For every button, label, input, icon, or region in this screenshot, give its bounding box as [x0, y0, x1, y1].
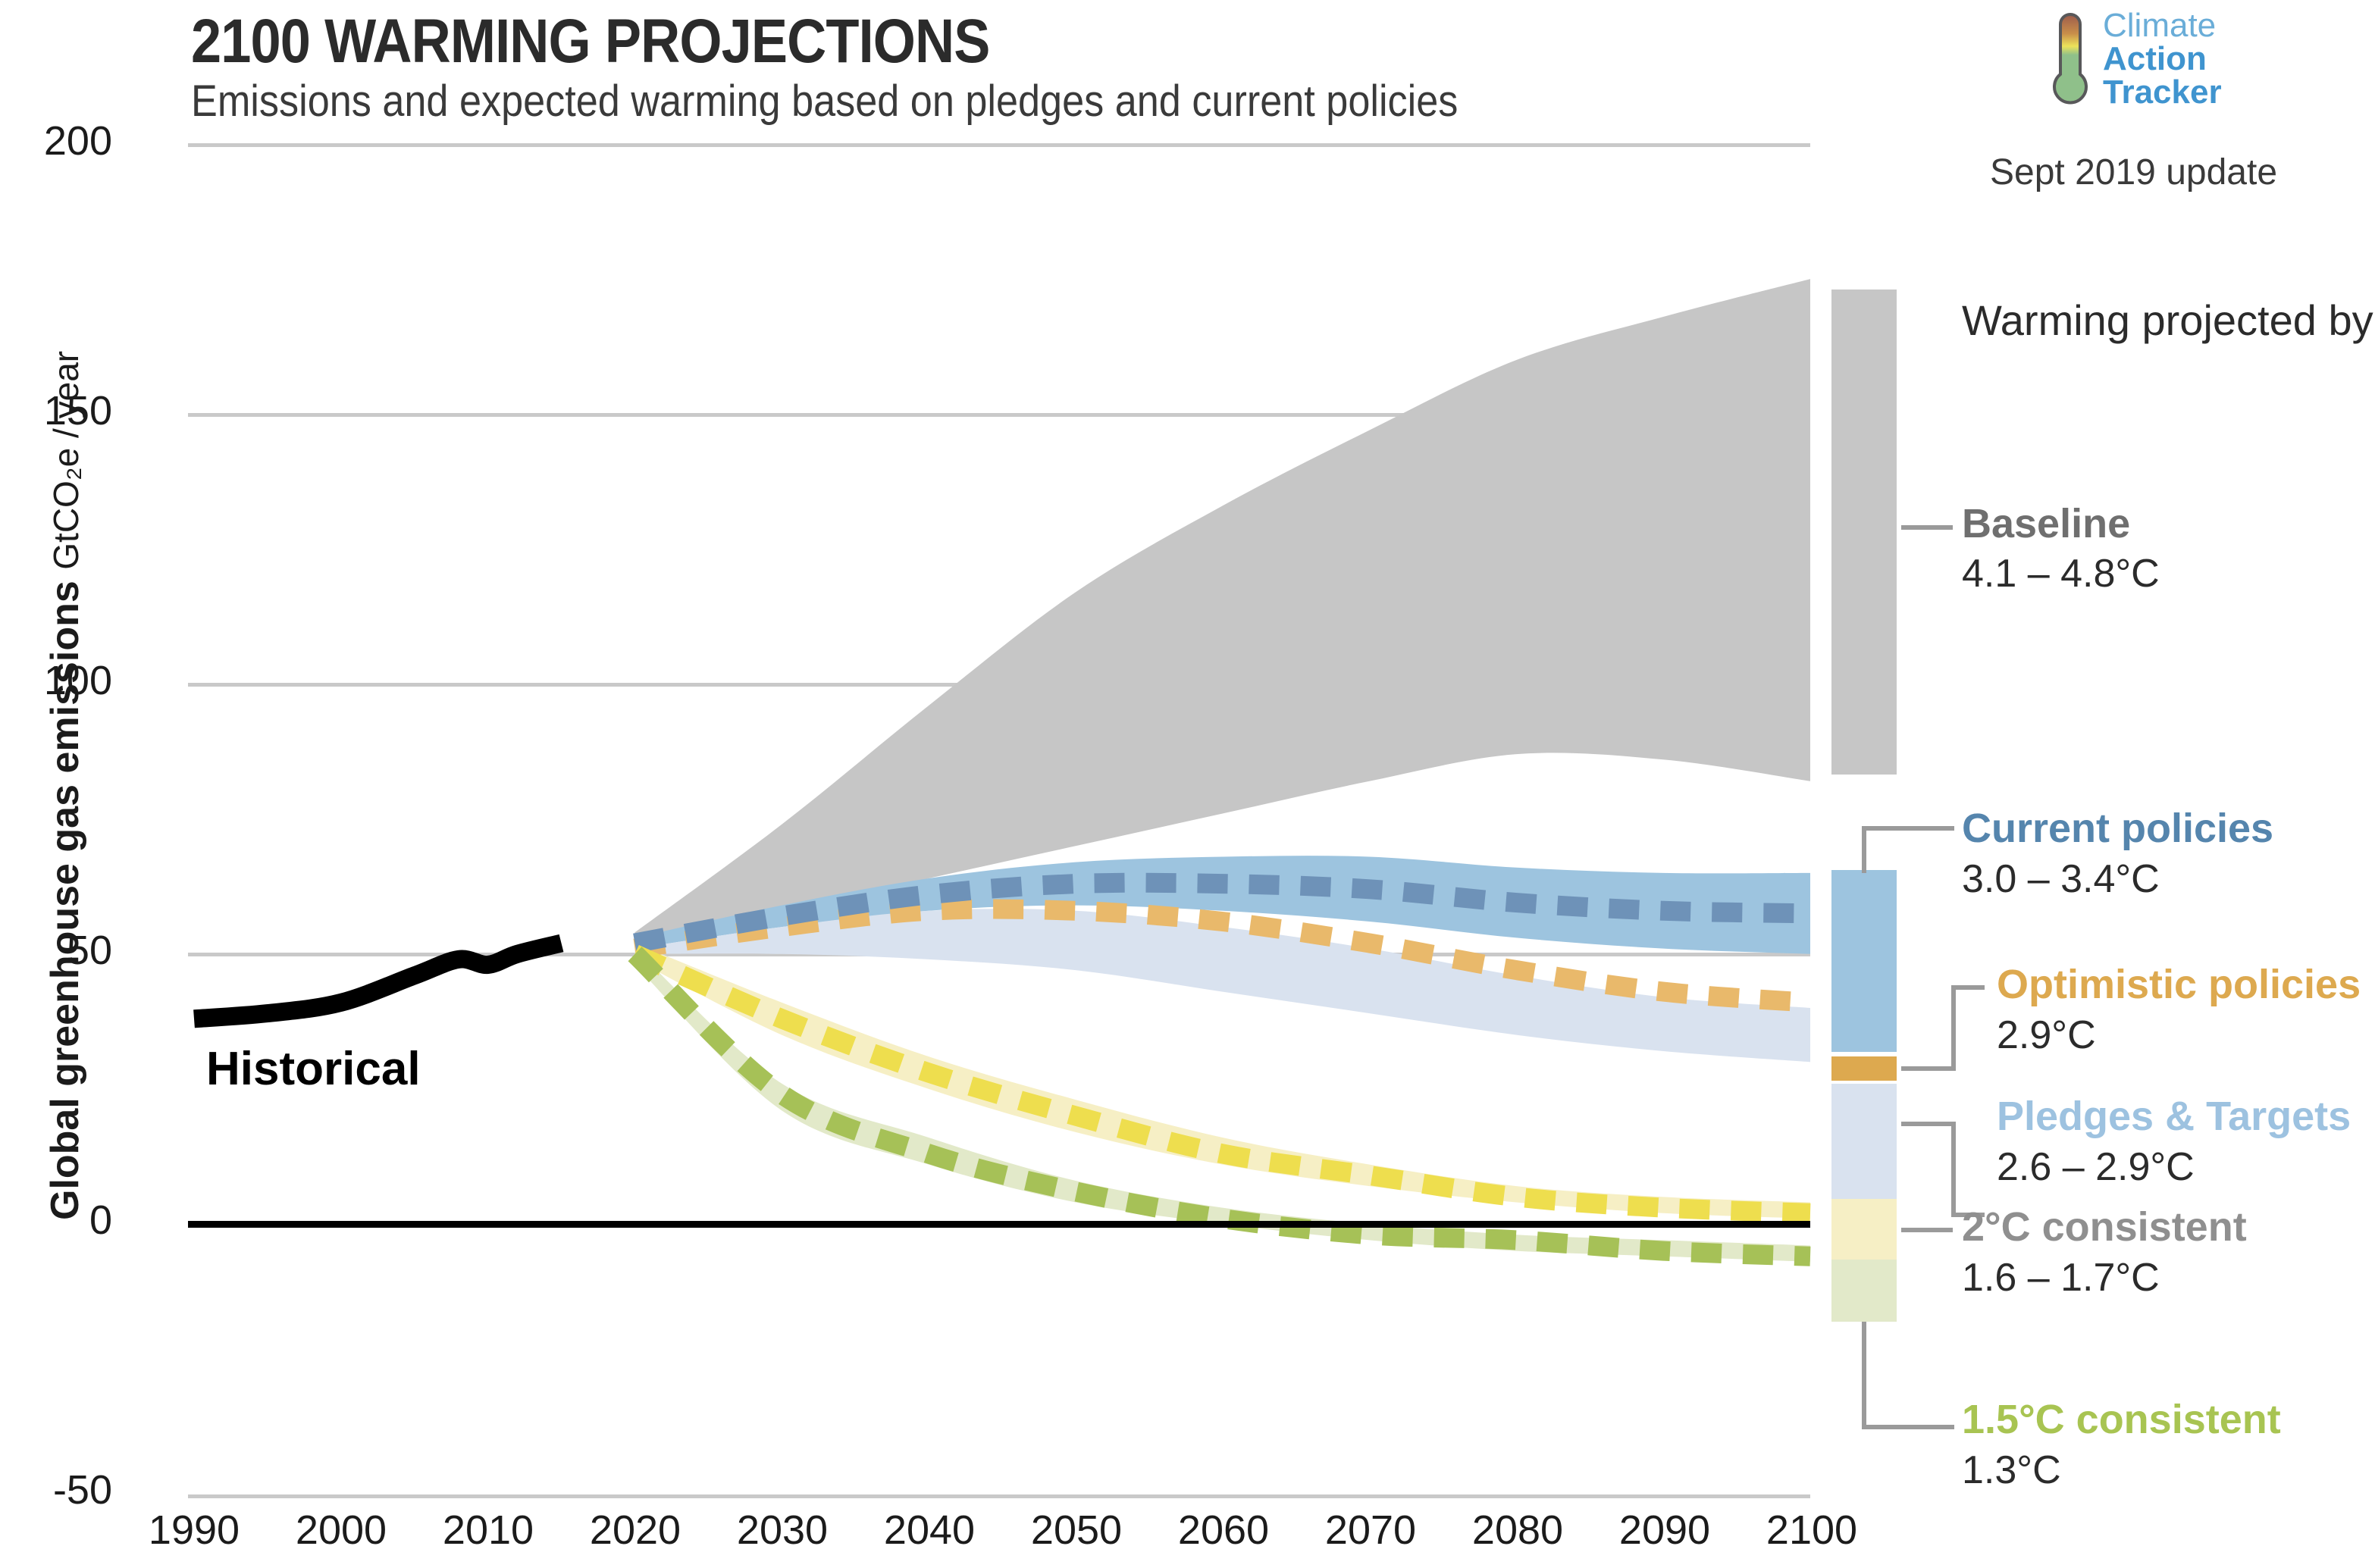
- legend-name-current-policies: Current policies: [1962, 805, 2273, 852]
- legend-leader-2c: [1901, 1228, 1953, 1232]
- legend-swatch-current-policies[interactable]: [1831, 870, 1897, 1052]
- band-baseline: [635, 279, 1811, 943]
- legend-name-optimistic-policies: Optimistic policies: [1997, 961, 2361, 1008]
- legend-leader-optimistic-t: [1951, 985, 1985, 990]
- legend-swatch-2c-consistent[interactable]: [1831, 1199, 1897, 1261]
- legend-leader-optimistic-h: [1901, 1066, 1956, 1071]
- legend-leader-pledges-h1: [1901, 1122, 1956, 1126]
- legend-value-15c-consistent: 1.3°C: [1962, 1448, 2061, 1493]
- legend-leader-baseline: [1901, 525, 1953, 530]
- legend-swatch-baseline[interactable]: [1831, 290, 1897, 775]
- legend-heading: Warming projected by 2100: [1962, 297, 2371, 344]
- legend-value-current-policies: 3.0 – 3.4°C: [1962, 856, 2160, 902]
- legend-name-2c-consistent: 2°C consistent: [1962, 1203, 2247, 1250]
- legend-leader-current-h: [1862, 826, 1954, 831]
- legend-leader-current-v: [1862, 826, 1866, 873]
- line-historical: [194, 944, 562, 1019]
- legend-value-pledges-targets: 2.6 – 2.9°C: [1997, 1144, 2195, 1190]
- legend-leader-optimistic-v: [1951, 985, 1956, 1071]
- legend-swatch-optimistic-policies[interactable]: [1831, 1056, 1897, 1081]
- legend-name-pledges-targets: Pledges & Targets: [1997, 1093, 2351, 1140]
- legend-value-baseline: 4.1 – 4.8°C: [1962, 551, 2160, 596]
- legend-swatch-15c-consistent[interactable]: [1831, 1260, 1897, 1322]
- legend-leader-pledges-v: [1951, 1122, 1956, 1217]
- legend-name-baseline: Baseline: [1962, 500, 2130, 547]
- chart-plot-area: [0, 0, 2375, 1568]
- zero-line: [188, 1221, 1810, 1228]
- legend-leader-15c-v: [1862, 1322, 1866, 1429]
- legend-leader-15c-h: [1862, 1425, 1954, 1429]
- legend-name-15c-consistent: 1.5°C consistent: [1962, 1396, 2281, 1443]
- legend-value-2c-consistent: 1.6 – 1.7°C: [1962, 1255, 2160, 1300]
- historical-annotation: Historical: [206, 1042, 421, 1096]
- legend-value-optimistic-policies: 2.9°C: [1997, 1012, 2096, 1058]
